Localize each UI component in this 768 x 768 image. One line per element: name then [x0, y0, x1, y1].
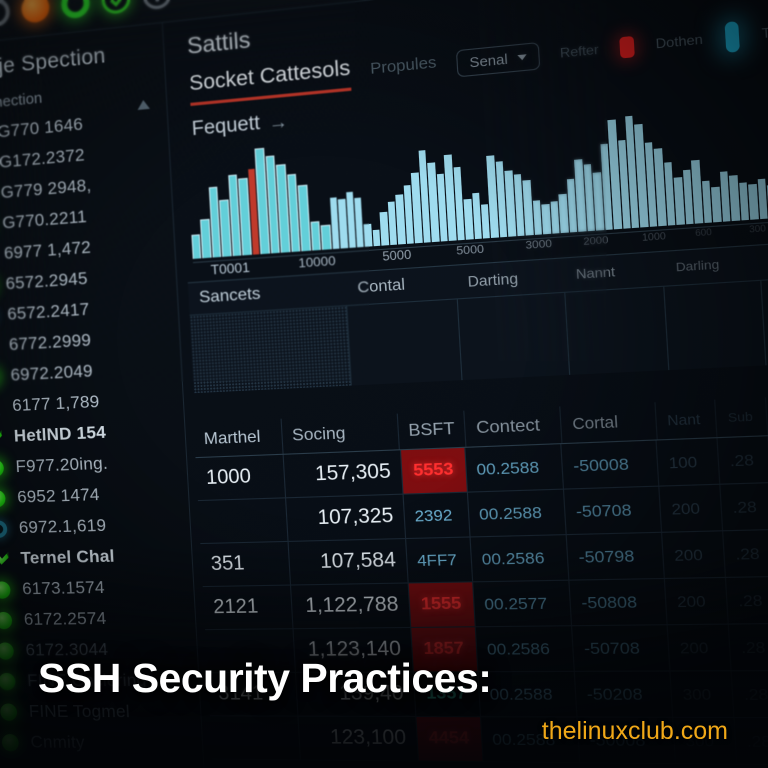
status-led-icon — [0, 398, 1, 416]
screenshot-stage: Proje Spection Connection G770 1646G172.… — [0, 0, 768, 768]
status-dot-orange-icon[interactable] — [21, 0, 50, 23]
table-cell — [198, 498, 289, 543]
table-cell: 00.2588 — [468, 490, 567, 537]
sidebar-item-label: G172.2372 — [0, 145, 85, 173]
sidebar-item-label: 6572.2945 — [5, 268, 88, 294]
sidebar-item-label: G770 1646 — [0, 114, 84, 142]
table-cell: 1000 — [196, 455, 287, 500]
table-cell: -50808 — [569, 579, 667, 625]
breadcrumb-label: Fequett — [191, 112, 260, 141]
status-led-icon — [0, 459, 4, 477]
chart-bar — [542, 204, 551, 234]
table-header-cell[interactable]: Socing — [282, 414, 400, 454]
table-header-cell[interactable]: Marthel — [194, 419, 284, 457]
table-header-cell[interactable]: Contect — [465, 406, 563, 446]
table-header-cell[interactable]: BSFT — [397, 411, 467, 450]
table-header-cell[interactable]: Cortal — [561, 402, 658, 443]
search-ring-icon[interactable] — [0, 0, 10, 28]
info-circle-icon[interactable] — [142, 0, 173, 10]
sidebar-item-label: 6177 1,789 — [12, 392, 100, 417]
table-cell: 107,584 — [289, 539, 408, 584]
data-table: MarthelSocingBSFTContectCortalNantSubCon… — [194, 392, 768, 767]
tab-socket-cattesols[interactable]: Socket Cattesols — [189, 57, 352, 106]
status-led-icon — [0, 428, 3, 446]
table-cell: 107,325 — [287, 495, 406, 541]
status-led-icon — [0, 611, 13, 628]
chart-tick-label: 1000 — [642, 230, 666, 243]
sidebar-item-label: G779 2948, — [0, 175, 92, 203]
label-dothen: Dothen — [655, 31, 703, 51]
label-toun: Toun — [761, 22, 768, 41]
chart-bar — [191, 234, 201, 259]
table-cell: 1555 — [408, 582, 475, 627]
table-cell: -50708 — [572, 625, 670, 671]
chart-bar — [321, 225, 332, 250]
monitor-screen: Proje Spection Connection G770 1646G172.… — [0, 0, 768, 768]
detail-panel-cell — [348, 298, 463, 385]
table-cell: 200 — [659, 485, 723, 532]
table-cell: -50708 — [564, 487, 662, 534]
chevron-down-icon — [517, 54, 527, 60]
table-cell: 00.2586 — [470, 535, 569, 581]
sidebar-item-label: F977.20ing. — [15, 453, 108, 477]
chart-bar — [373, 230, 381, 246]
sidebar-item[interactable]: 6173.1574 — [0, 571, 194, 605]
table-cell: 5553 — [401, 448, 468, 494]
table-cell: 123,100 — [299, 717, 419, 761]
table-cell: 4FF7 — [406, 538, 473, 583]
sidebar-item-label: G770.2211 — [2, 207, 88, 234]
table-cell: .28 — [726, 577, 768, 623]
table-cell: .28 — [723, 530, 768, 577]
sidebar-item-label: FINE Togmel — [28, 701, 130, 722]
status-led-icon — [0, 520, 8, 538]
chart-tick-label: 10000 — [298, 253, 336, 270]
filter-select-value: Senal — [469, 50, 508, 70]
status-led-icon — [0, 642, 14, 659]
status-ring-green-icon[interactable] — [61, 0, 91, 19]
table-cell: 2392 — [403, 493, 470, 538]
sidebar-item-label: 6172.2574 — [23, 608, 107, 630]
detail-panel-header-cell: Darting — [456, 267, 565, 290]
arrow-right-icon: → — [268, 110, 289, 134]
table-header-cell[interactable]: Nant — [655, 400, 718, 440]
table-cell: .28 — [717, 436, 768, 483]
table-cell: .28 — [720, 483, 768, 530]
detail-panel-header-cell: Darling — [663, 256, 760, 276]
status-led-icon — [0, 489, 6, 507]
table-cell: -50208 — [575, 672, 673, 717]
table-cell: 1,122,788 — [291, 584, 410, 629]
sidebar-item-label: 6972.2049 — [10, 361, 93, 386]
sidebar-item-label: 6772.2999 — [8, 330, 91, 355]
sidebar-item[interactable]: Cnmity — [1, 727, 203, 760]
primary-action-button[interactable] — [724, 20, 740, 52]
chart-tick-label: 3000 — [525, 238, 552, 252]
table-cell: .28 — [729, 624, 768, 670]
table-cell: .28 — [731, 671, 768, 717]
sidebar-item-label: 6572.2417 — [7, 299, 90, 325]
table-cell: 100 — [656, 438, 720, 485]
filter-select[interactable]: Senal — [456, 41, 540, 76]
chart-tick-label: 5000 — [382, 248, 412, 264]
detail-panel-cell — [565, 286, 670, 375]
table-cell: -50008 — [561, 441, 659, 489]
table-cell: 4454 — [416, 717, 483, 761]
tab-propules[interactable]: Propules — [370, 53, 438, 84]
table-cell: 157,305 — [284, 450, 403, 497]
main-content: Sattils Socket Cattesols Propules Senal … — [163, 0, 768, 768]
table-cell: .28 — [734, 718, 768, 764]
sidebar-item[interactable]: Ternel Chal — [0, 539, 192, 574]
chart-tick-label: 2000 — [583, 234, 609, 248]
sidebar-item-label: 6952 1474 — [17, 485, 100, 508]
status-led-icon — [0, 550, 9, 568]
sidebar-item-label: Cnmity — [30, 732, 85, 753]
table-header-cell[interactable]: Sub — [716, 397, 768, 437]
sidebar-title: Proje Spection — [0, 38, 164, 83]
sidebar-item-label: HetlND 154 — [13, 422, 106, 446]
sidebar-item[interactable]: 6972.1,619 — [0, 508, 191, 544]
detail-panel-header-cell: Contal — [346, 273, 457, 297]
table-cell — [210, 716, 301, 759]
sidebar-item-label: 6977 1,472 — [4, 237, 92, 264]
label-refter: Refter — [560, 42, 600, 61]
overlay-watermark: thelinuxclub.com — [542, 717, 728, 746]
chart-tick-label: 5000 — [456, 243, 484, 258]
detail-panel-cell — [665, 280, 767, 370]
sidebar-item-label: Ternel Chal — [20, 546, 115, 569]
detail-panel-header-cell: Nannt — [564, 261, 665, 283]
table-cell: 351 — [200, 542, 291, 586]
chart-bar — [310, 221, 321, 251]
chart-tick-label: 600 — [695, 227, 712, 238]
status-led-icon — [1, 733, 19, 750]
sidebar-item-label: 6972.1,619 — [18, 515, 106, 538]
chart-bar — [354, 198, 364, 248]
detail-panel-header-cell: Setting — [760, 252, 768, 269]
detail-panel-cell — [190, 305, 353, 393]
detail-panel-cell — [457, 292, 570, 380]
table-cell: -50798 — [567, 533, 665, 580]
table-cell: 200 — [662, 531, 726, 578]
table-cell: 00.2588 — [465, 444, 564, 491]
sidebar-item-label: 6173.1574 — [22, 577, 106, 599]
status-led-icon — [0, 703, 18, 720]
detail-panel-header-cell: Sancets — [188, 279, 347, 308]
status-led-icon — [0, 581, 11, 599]
chart-bar — [364, 224, 372, 247]
scroll-up-icon[interactable] — [137, 99, 150, 109]
status-led-icon — [0, 672, 16, 689]
table-cell: 200 — [668, 625, 732, 671]
table-cell: 2121 — [203, 586, 294, 630]
status-check-green-icon[interactable] — [101, 0, 131, 15]
table-cell: 200 — [665, 578, 729, 624]
dashboard-app: Proje Spection Connection G770 1646G172.… — [0, 0, 768, 768]
table-cell: 300 — [670, 671, 734, 717]
overlay-title: SSH Security Practices: — [38, 655, 491, 702]
toolbar-icon-group — [0, 0, 172, 28]
table-cell: 00.2577 — [473, 581, 572, 627]
sidebar-item[interactable]: 6172.2574 — [0, 602, 196, 635]
record-button[interactable] — [619, 35, 634, 58]
table-cell: 00.2588 — [478, 672, 577, 717]
chart-bar — [472, 193, 482, 239]
chart-tick-label: T0001 — [210, 259, 250, 277]
chart-tick-label: 300 — [749, 223, 766, 234]
